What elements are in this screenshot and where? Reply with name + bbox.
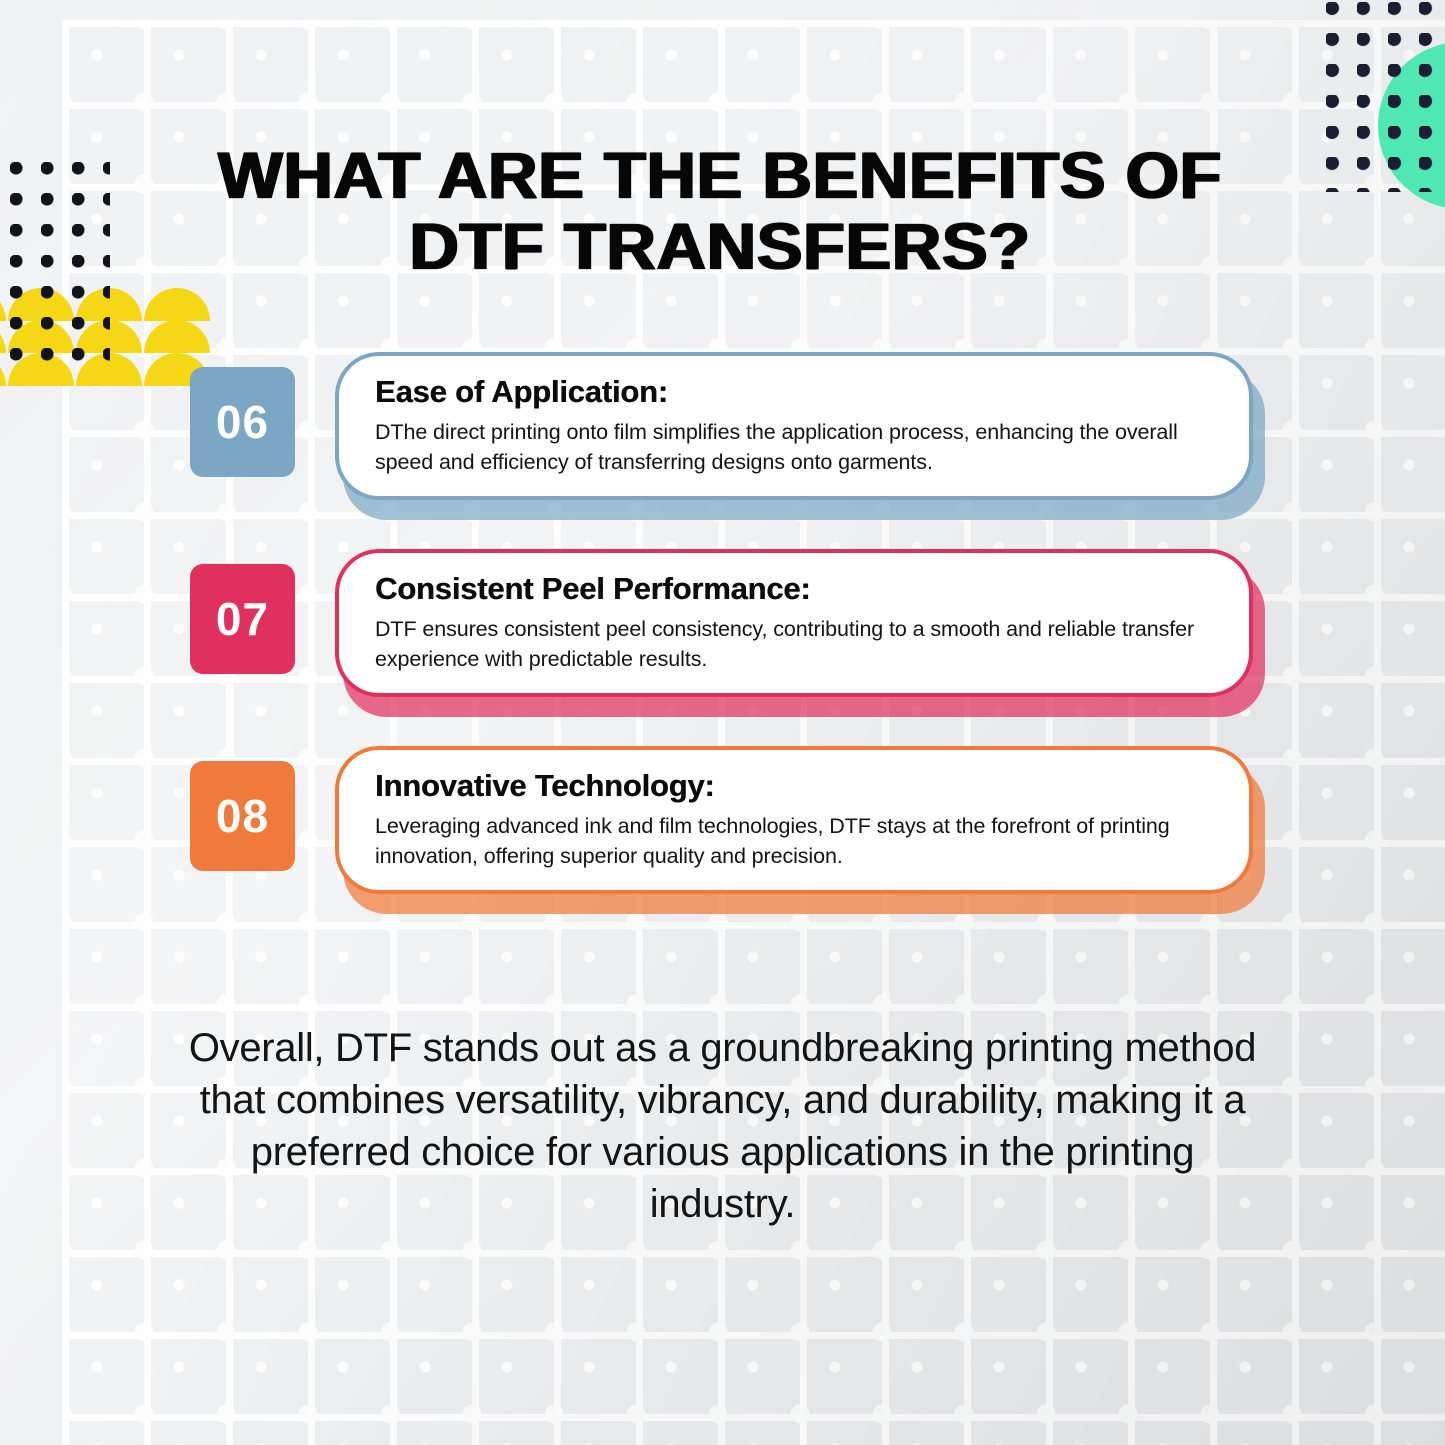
- benefit-card: Innovative Technology: Leveraging advanc…: [335, 746, 1253, 894]
- benefit-item-06: 06 Ease of Application: DThe direct prin…: [190, 352, 1265, 527]
- page-title: WHAT ARE THE BENEFITS OF DTF TRANSFERS?: [148, 140, 1292, 283]
- right-dot-matrix-decoration: [1326, 2, 1445, 192]
- semicircle-shape: [144, 288, 210, 321]
- benefit-card: Ease of Application: DThe direct printin…: [335, 352, 1253, 500]
- benefit-item-08: 08 Innovative Technology: Leveraging adv…: [190, 746, 1265, 921]
- summary-paragraph: Overall, DTF stands out as a groundbreak…: [175, 1022, 1270, 1230]
- benefit-card-wrapper: Ease of Application: DThe direct printin…: [335, 352, 1265, 520]
- benefit-card-wrapper: Consistent Peel Performance: DTF ensures…: [335, 549, 1265, 717]
- left-dot-matrix-decoration: [10, 162, 110, 372]
- benefit-description: DTF ensures consistent peel consistency,…: [375, 614, 1215, 675]
- benefit-card: Consistent Peel Performance: DTF ensures…: [335, 549, 1253, 697]
- benefit-card-wrapper: Innovative Technology: Leveraging advanc…: [335, 746, 1265, 914]
- benefit-title: Consistent Peel Performance:: [375, 571, 1215, 607]
- benefit-title: Ease of Application:: [375, 374, 1215, 410]
- infographic-poster: WHAT ARE THE BENEFITS OF DTF TRANSFERS? …: [0, 0, 1445, 1445]
- benefit-description: DThe direct printing onto film simplifie…: [375, 417, 1215, 478]
- semicircle-shape: [0, 288, 6, 321]
- benefit-number-badge: 06: [190, 367, 295, 477]
- benefit-item-07: 07 Consistent Peel Performance: DTF ensu…: [190, 549, 1265, 724]
- benefit-number-badge: 08: [190, 761, 295, 871]
- benefit-number-badge: 07: [190, 564, 295, 674]
- semicircle-shape: [0, 353, 6, 386]
- benefit-title: Innovative Technology:: [375, 768, 1215, 804]
- semicircle-shape: [144, 320, 210, 353]
- benefit-description: Leveraging advanced ink and film technol…: [375, 811, 1215, 872]
- semicircle-shape: [0, 320, 6, 353]
